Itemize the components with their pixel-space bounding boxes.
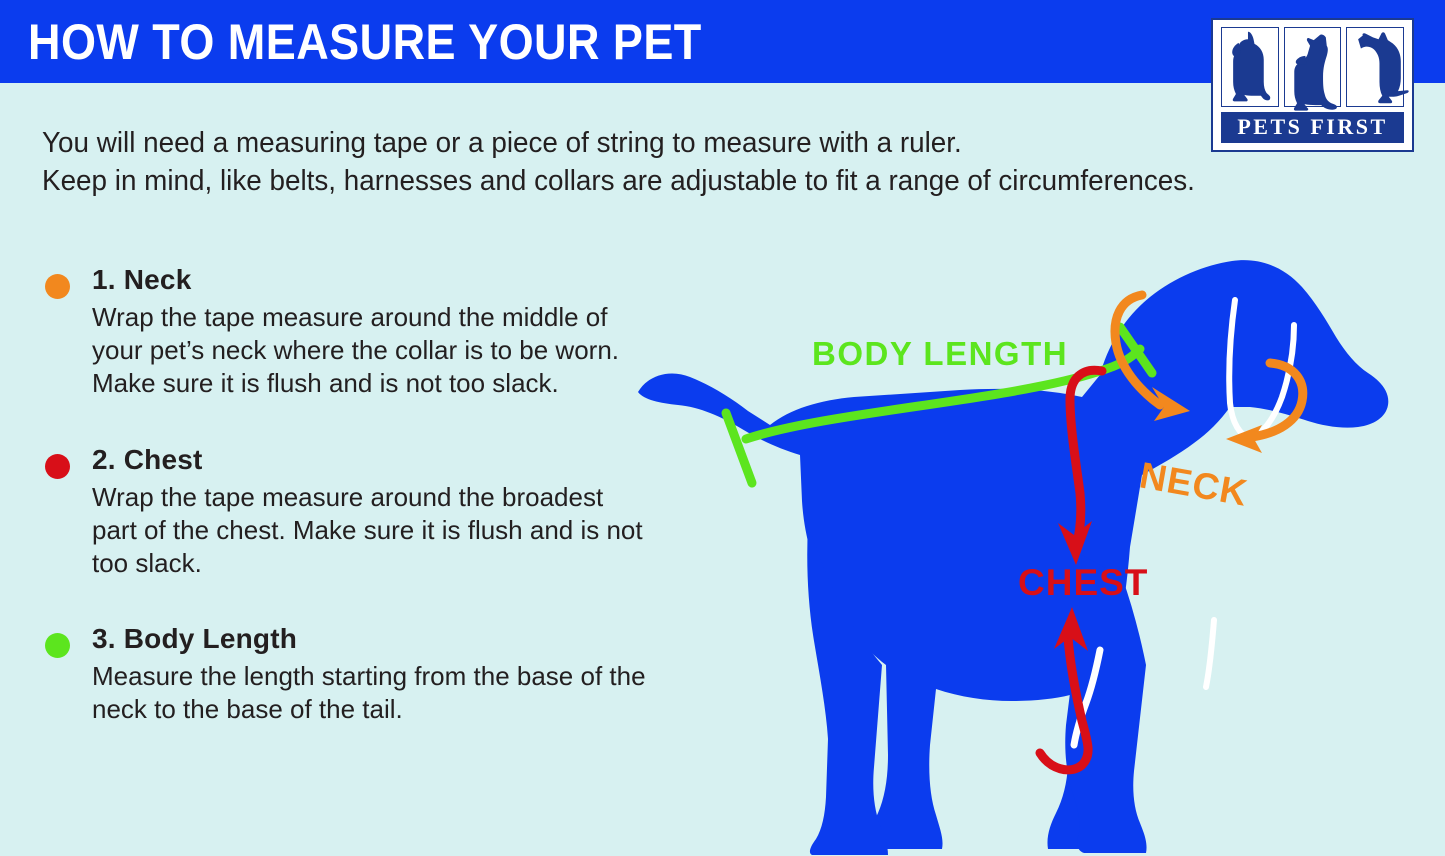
bullet-orange-icon (45, 274, 70, 299)
step-neck-line-1: Wrap the tape measure around the middle … (92, 301, 652, 334)
bullet-red-icon (45, 454, 70, 479)
logo-dog-row (1221, 27, 1404, 107)
brand-logo: PETS FIRST (1211, 18, 1414, 152)
step-chest-line-2: part of the chest. Make sure it is flush… (92, 514, 652, 547)
logo-brand-text: PETS FIRST (1221, 112, 1404, 143)
dog-measurement-diagram: BODY LENGTH NECK (630, 225, 1445, 856)
step-chest-body: Wrap the tape measure around the broades… (92, 481, 652, 580)
step-neck: 1. Neck Wrap the tape measure around the… (42, 262, 642, 400)
dog-sitting-alert-icon (1346, 27, 1404, 107)
step-neck-title: 1. Neck (92, 262, 642, 298)
chest-label: CHEST (1018, 562, 1148, 603)
step-chest-line-1: Wrap the tape measure around the broades… (92, 481, 652, 514)
neck-label: NECK (1137, 455, 1251, 514)
step-chest-line-3: too slack. (92, 547, 652, 580)
step-neck-line-2: your pet’s neck where the collar is to b… (92, 334, 652, 367)
step-body-length-line-2: neck to the base of the tail. (92, 693, 652, 726)
step-chest: 2. Chest Wrap the tape measure around th… (42, 442, 642, 580)
step-body-length: 3. Body Length Measure the length starti… (42, 621, 642, 726)
step-neck-line-3: Make sure it is flush and is not too sla… (92, 367, 652, 400)
step-neck-body: Wrap the tape measure around the middle … (92, 301, 652, 400)
step-chest-title: 2. Chest (92, 442, 642, 478)
step-body-length-line-1: Measure the length starting from the bas… (92, 660, 652, 693)
step-body-length-title: 3. Body Length (92, 621, 642, 657)
step-body-length-body: Measure the length starting from the bas… (92, 660, 652, 726)
dog-sitting-icon (1221, 27, 1279, 107)
page-title: HOW TO MEASURE YOUR PET (28, 14, 702, 70)
body-length-label: BODY LENGTH (812, 335, 1068, 372)
intro-line-1: You will need a measuring tape or a piec… (42, 124, 1232, 162)
intro-text: You will need a measuring tape or a piec… (42, 124, 1232, 200)
dog-howling-icon (1284, 27, 1342, 107)
intro-line-2: Keep in mind, like belts, harnesses and … (42, 162, 1232, 200)
infographic-page: HOW TO MEASURE YOUR PET P (0, 0, 1445, 856)
bullet-green-icon (45, 633, 70, 658)
steps-list: 1. Neck Wrap the tape measure around the… (42, 262, 642, 726)
